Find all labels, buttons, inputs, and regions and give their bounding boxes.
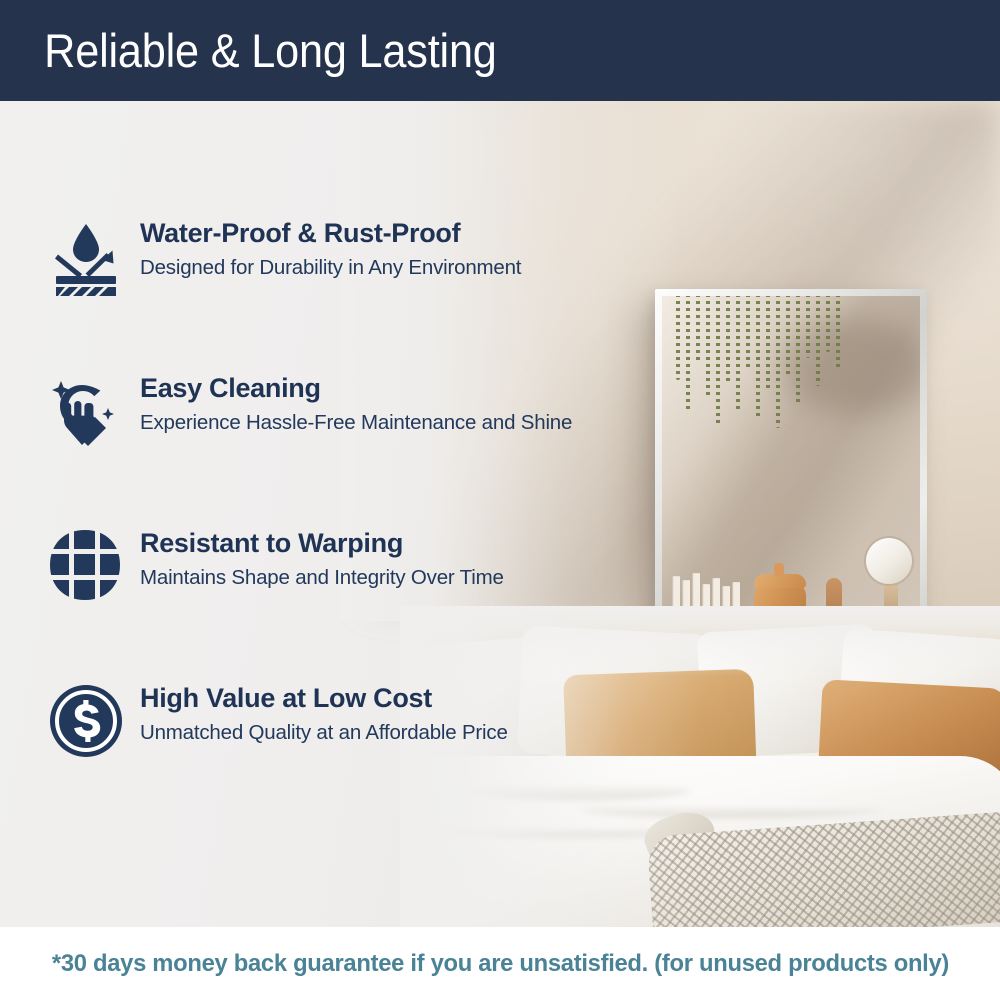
mirror-glass [662, 296, 920, 648]
feature-subtitle: Experience Hassle-Free Maintenance and S… [140, 410, 572, 437]
footer-banner: *30 days money back guarantee if you are… [0, 927, 1000, 1000]
dollar-coin-icon [48, 681, 140, 759]
feature-item: Water-Proof & Rust-Proof Designed for Du… [48, 216, 640, 371]
product-infographic: Reliable & Long Lasting [0, 0, 1000, 1000]
feature-subtitle: Maintains Shape and Integrity Over Time [140, 565, 504, 592]
feature-text: Water-Proof & Rust-Proof Designed for Du… [140, 216, 521, 282]
feature-item: Easy Cleaning Experience Hassle-Free Mai… [48, 371, 640, 526]
feature-item: Resistant to Warping Maintains Shape and… [48, 526, 640, 681]
page-title: Reliable & Long Lasting [0, 23, 497, 78]
hand-cleaning-cloth-icon [48, 371, 140, 451]
feature-subtitle: Designed for Durability in Any Environme… [140, 255, 521, 282]
feature-item: High Value at Low Cost Unmatched Quality… [48, 681, 640, 836]
feature-title: Easy Cleaning [140, 373, 572, 405]
vanity-mirror-reflection [866, 538, 912, 584]
feature-title: Resistant to Warping [140, 528, 504, 560]
hanging-plant-reflection [670, 296, 860, 429]
ceramic-pot-knob [774, 563, 784, 577]
water-drop-repel-icon [48, 216, 140, 296]
feature-list: Water-Proof & Rust-Proof Designed for Du… [0, 101, 640, 927]
feature-text: Easy Cleaning Experience Hassle-Free Mai… [140, 371, 572, 437]
feature-text: High Value at Low Cost Unmatched Quality… [140, 681, 508, 747]
feature-text: Resistant to Warping Maintains Shape and… [140, 526, 504, 592]
framed-wall-mirror [655, 289, 927, 655]
feature-title: Water-Proof & Rust-Proof [140, 218, 521, 250]
feature-subtitle: Unmatched Quality at an Affordable Price [140, 720, 508, 747]
guarantee-text: *30 days money back guarantee if you are… [51, 950, 948, 978]
feature-title: High Value at Low Cost [140, 683, 508, 715]
header-bar: Reliable & Long Lasting [0, 0, 1000, 101]
grid-squircle-icon [48, 526, 140, 602]
